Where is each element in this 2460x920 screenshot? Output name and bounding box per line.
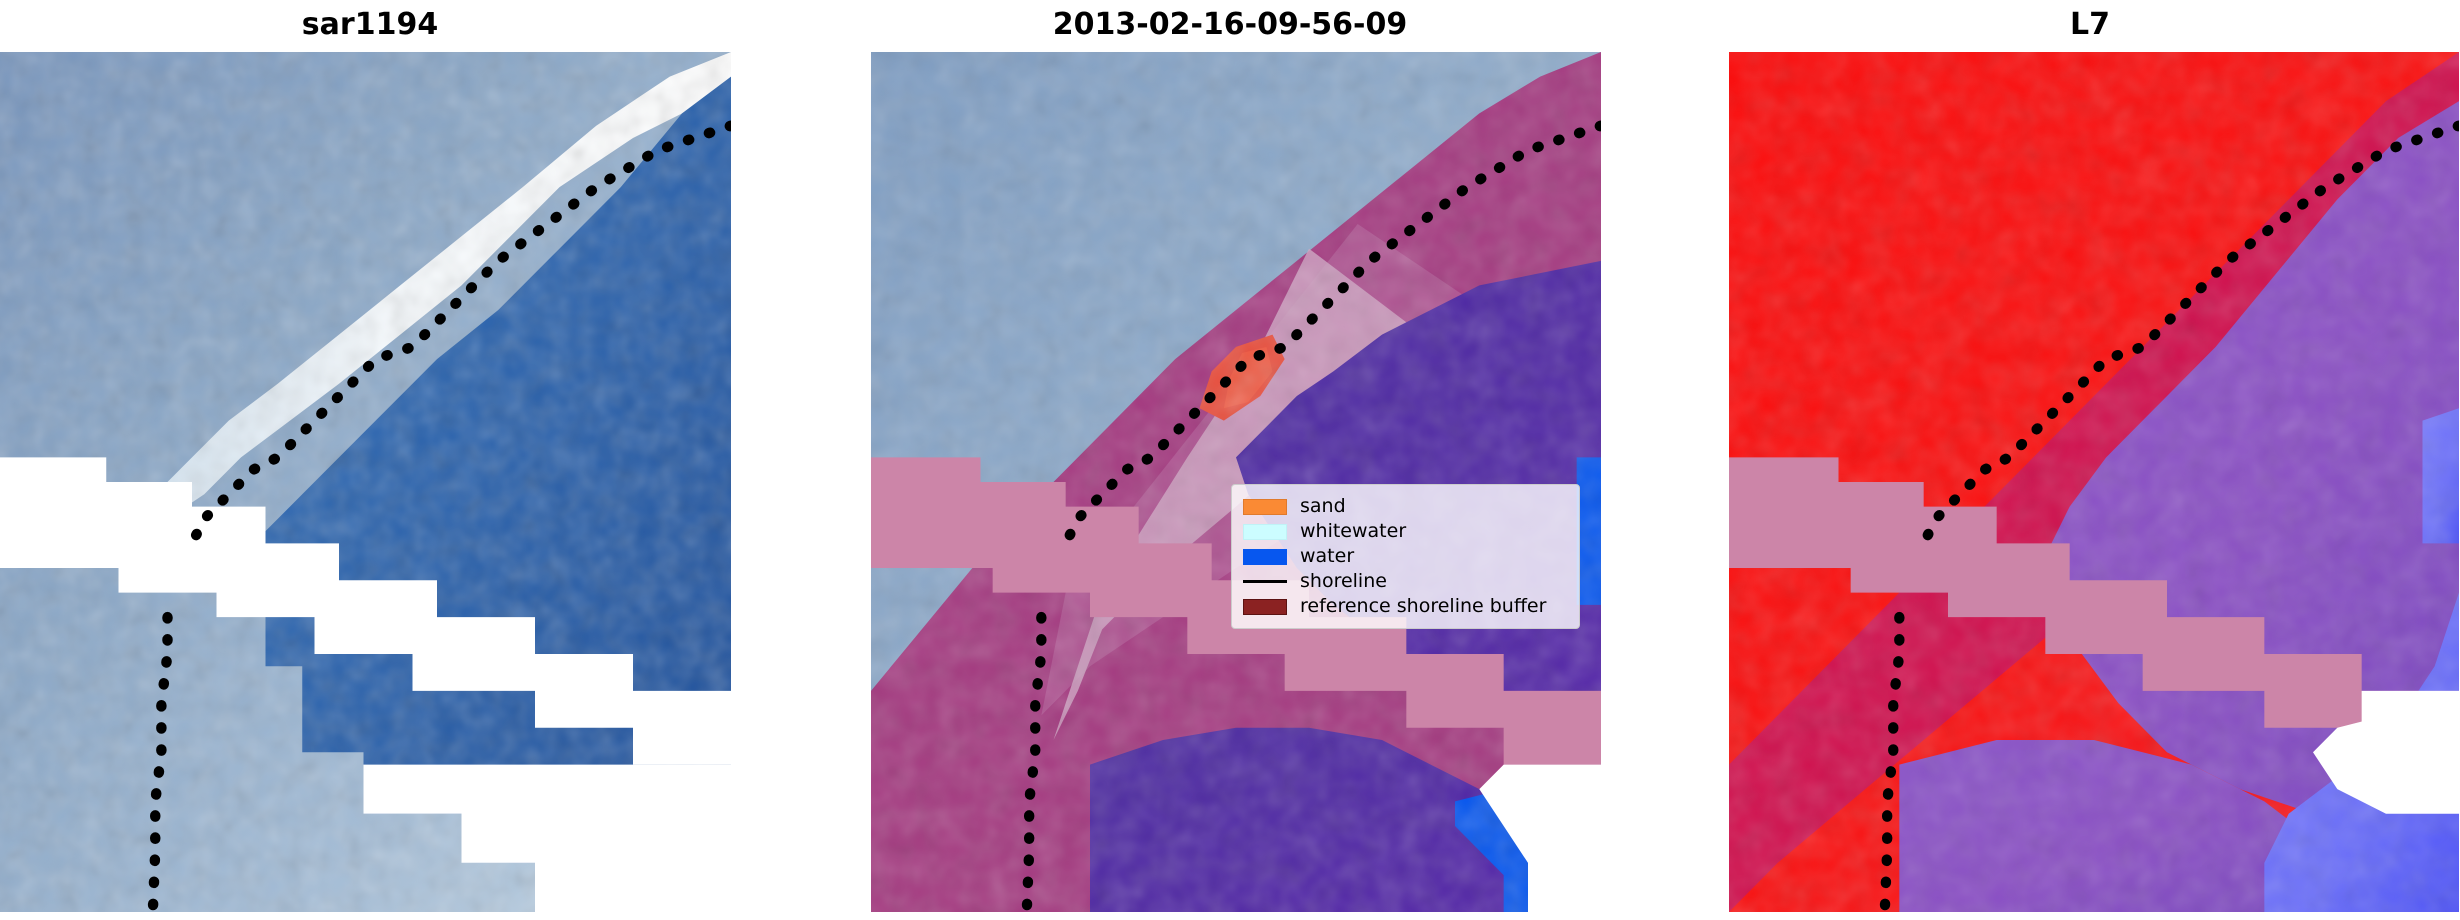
legend-label-water: water: [1300, 544, 1354, 569]
legend-item-whitewater: whitewater: [1243, 519, 1569, 544]
legend-item-reference-shoreline-buffer: reference shoreline buffer: [1243, 594, 1569, 619]
legend-label-reference-shoreline-buffer: reference shoreline buffer: [1300, 594, 1546, 619]
reference-shoreline-buffer-swatch-icon: [1243, 599, 1287, 615]
shoreline-overlay-sar: [0, 52, 731, 912]
legend-item-sand: sand: [1243, 494, 1569, 519]
legend-item-water: water: [1243, 544, 1569, 569]
shoreline-overlay-classification: [871, 52, 1601, 912]
panel-l7: L7: [1720, 0, 2460, 920]
legend-label-shoreline: shoreline: [1300, 569, 1387, 594]
legend: sand whitewater water shoreline referenc…: [1231, 484, 1580, 629]
whitewater-swatch-icon: [1243, 524, 1287, 540]
shoreline-overlay-l7: [1729, 52, 2459, 912]
panel-classification: 2013-02-16-09-56-09: [860, 0, 1600, 920]
figure-canvas: sar1194: [0, 0, 2460, 920]
legend-label-whitewater: whitewater: [1300, 519, 1406, 544]
legend-label-sand: sand: [1300, 494, 1346, 519]
sand-swatch-icon: [1243, 499, 1287, 515]
legend-item-shoreline: shoreline: [1243, 569, 1569, 594]
panel-sar: sar1194: [0, 0, 740, 920]
axes-l7: [1729, 52, 2459, 912]
water-swatch-icon: [1243, 549, 1287, 565]
panel-title-l7: L7: [1720, 4, 2460, 46]
shoreline-line-icon: [1243, 574, 1287, 590]
panel-title-sar: sar1194: [0, 4, 740, 46]
axes-sar: [0, 52, 731, 912]
panel-title-classification: 2013-02-16-09-56-09: [860, 4, 1600, 46]
axes-classification: [871, 52, 1601, 912]
